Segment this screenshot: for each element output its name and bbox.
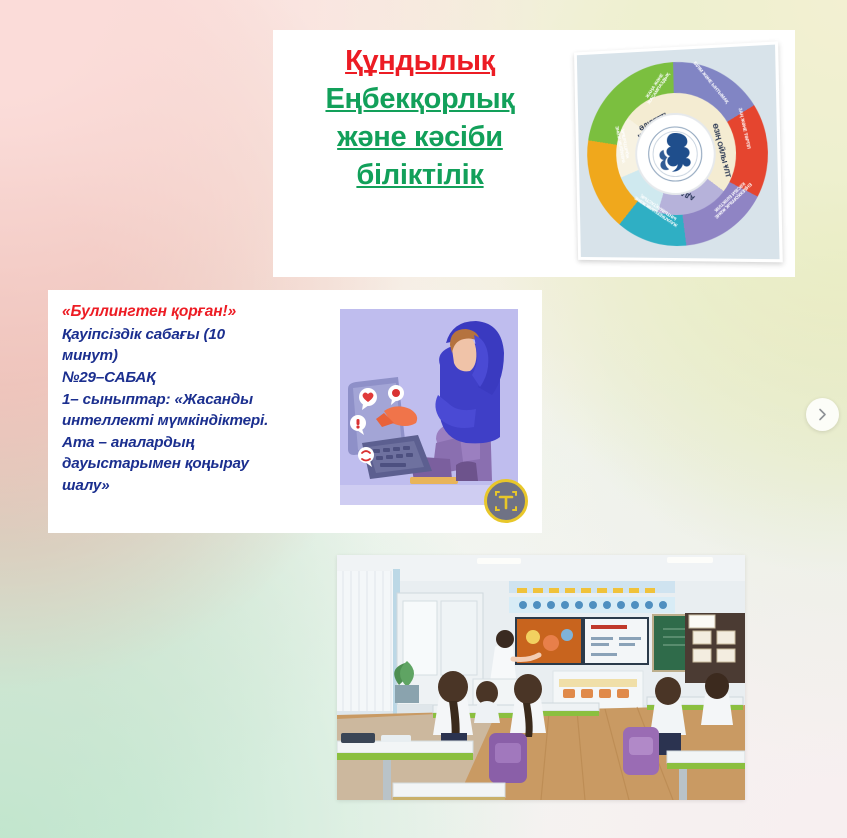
wheel-outer-label-1: ЖАҢА ЖӘНЕ ЖАСАМПАЗДЫҚ [637,60,677,113]
values-wheel-frame: ЖАҢА ЖӘНЕ ЖАСАМПАЗДЫҚ БІЛІМ ЖӘНЕ ЫНТЫМАҚ… [574,41,783,262]
lesson-title: «Буллингтен қорған!» [62,302,334,323]
classroom-lesson-photo[interactable] [337,555,745,800]
values-line-1: Құндылық [285,44,555,80]
tiktok-style-t-watermark-icon [484,479,528,523]
wheel-outer-label-2: БІЛІМ ЖӘНЕ ЫНТЫМАҚ [690,59,731,107]
lesson-body-line-1: Қауіпсіздік сабағы (10 [62,324,334,346]
lesson-body-line-6: Ата – аналардың [62,432,334,454]
lesson-text-block: «Буллингтен қорған!» Қауіпсіздік сабағы … [62,302,334,523]
lesson-body-line-5: интеллекті мүмкіндіктері. [62,410,334,432]
lesson-body-line-7: дауыстарымен қоңырау [62,453,334,475]
lesson-body-line-2: минут) [62,345,334,367]
lesson-body-line-3: №29–САБАҚ [62,367,334,389]
lesson-body-line-8: шалу» [62,475,334,497]
lesson-body-line-4: 1– сыныптар: «Жасанды [62,389,334,411]
values-line-4: біліктілік [285,158,555,194]
values-heading-block: Құндылық Еңбекқорлық және кәсіби білікті… [273,30,565,277]
next-slide-arrow[interactable] [806,398,839,431]
cyberbullying-illustration [340,309,518,505]
chevron-right-icon [815,407,830,422]
wheel-outer-label-3: ЗАҢ ЖӘНЕ ТӘРТІП [735,99,752,158]
values-wheel-panel: ЖАҢА ЖӘНЕ ЖАСАМПАЗДЫҚ БІЛІМ ЖӘНЕ ЫНТЫМАҚ… [565,30,795,277]
kazakh-ornament-emblem-icon [634,111,716,195]
values-line-3: және кәсіби [285,120,555,156]
values-line-2: Еңбекқорлық [285,82,555,118]
slide-gallery-stage: Құндылық Еңбекқорлық және кәсіби білікті… [0,0,847,838]
values-wheel-diagram: ЖАҢА ЖӘНЕ ЖАСАМПАЗДЫҚ БІЛІМ ЖӘНЕ ЫНТЫМАҚ… [585,57,770,246]
values-poster-card[interactable]: Құндылық Еңбекқорлық және кәсіби білікті… [273,30,795,277]
lesson-body: Қауіпсіздік сабағы (10 минут) №29–САБАҚ … [62,324,334,497]
bullying-lesson-card[interactable]: «Буллингтен қорған!» Қауіпсіздік сабағы … [48,290,542,533]
